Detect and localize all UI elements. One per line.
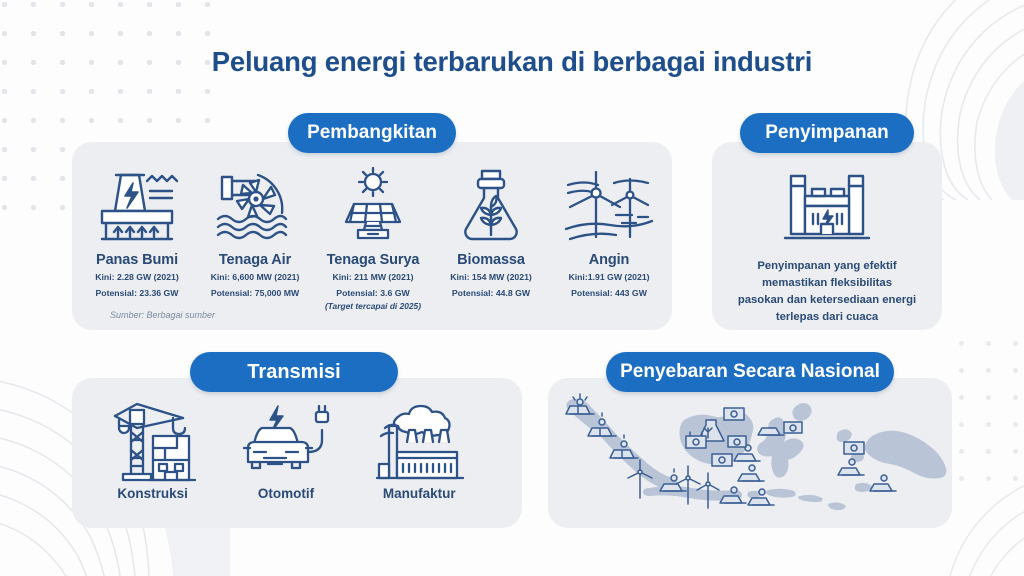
source-note: Sumber: Berbagai sumber (110, 310, 215, 320)
pill-generation[interactable]: Pembangkitan (288, 113, 456, 153)
generation-item-wind[interactable]: Angin Kini:1.91 GW (2021) Potensial: 443… (553, 162, 665, 300)
generation-item-biomass[interactable]: Biomassa Kini: 154 MW (2021) Potensial: … (435, 162, 547, 300)
generation-item-current: Kini: 154 MW (2021) (435, 271, 547, 284)
construction-crane-icon (93, 396, 213, 484)
generation-item-note: (Target tercapai di 2025) (317, 300, 429, 312)
map-plant-icon (728, 436, 746, 447)
generation-item-potential: Potensial: 44.8 GW (435, 287, 547, 300)
generation-item-hydro[interactable]: Tenaga Air Kini: 6,600 MW (2021) Potensi… (199, 162, 311, 300)
generation-item-name: Biomassa (435, 252, 547, 268)
storage-facility-icon (712, 168, 942, 248)
transmission-item-construction[interactable]: Konstruksi (93, 396, 213, 501)
infographic-canvas: Peluang energi terbarukan di berbagai in… (0, 0, 1024, 576)
transmission-item-name: Konstruksi (93, 486, 213, 501)
transmission-item-name: Manufaktur (359, 486, 479, 501)
generation-item-solar[interactable]: Tenaga Surya Kini: 211 MW (2021) Potensi… (317, 162, 429, 312)
electric-car-icon (226, 396, 346, 484)
map-plant-icon (844, 442, 864, 454)
indonesia-archipelago-map (556, 392, 948, 520)
generation-item-current: Kini: 2.28 GW (2021) (81, 271, 193, 284)
generation-item-potential: Potensial: 23.36 GW (81, 287, 193, 300)
generation-item-potential: Potensial: 443 GW (553, 287, 665, 300)
storage-description: Penyimpanan yang efektif memastikan flek… (720, 258, 934, 327)
storage-description-line: pasokan dan ketersediaan energi (720, 292, 934, 309)
transmission-item-automotive[interactable]: Otomotif (226, 396, 346, 501)
pill-distribution[interactable]: Penyebaran Secara Nasional (606, 352, 894, 392)
generation-item-name: Tenaga Air (199, 252, 311, 268)
generation-item-potential: Potensial: 75,000 MW (199, 287, 311, 300)
pill-storage[interactable]: Penyimpanan (740, 113, 914, 153)
generation-item-current: Kini: 6,600 MW (2021) (199, 271, 311, 284)
map-solar-icon (738, 465, 764, 481)
map-plant-icon (724, 408, 744, 420)
transmission-item-manufacturing[interactable]: Manufaktur (359, 396, 479, 501)
generation-item-geothermal[interactable]: Panas Bumi Kini: 2.28 GW (2021) Potensia… (81, 162, 193, 300)
generation-item-current: Kini: 211 MW (2021) (317, 271, 429, 284)
storage-description-line: terlepas dari cuaca (720, 309, 934, 326)
generation-items: Panas Bumi Kini: 2.28 GW (2021) Potensia… (78, 162, 668, 312)
wind-turbine-icon (553, 162, 665, 248)
transmission-item-name: Otomotif (226, 486, 346, 501)
biomass-flask-icon (435, 162, 547, 248)
generation-item-potential: Potensial: 3.6 GW (317, 287, 429, 300)
dot-grid-pattern-right (948, 330, 1024, 490)
solar-panel-icon (317, 162, 429, 248)
geothermal-plant-icon (81, 162, 193, 248)
generation-item-name: Tenaga Surya (317, 252, 429, 268)
storage-description-line: Penyimpanan yang efektif (720, 258, 934, 275)
transmission-items: Konstruksi (86, 396, 486, 501)
storage-description-line: memastikan fleksibilitas (720, 275, 934, 292)
factory-icon (359, 396, 479, 484)
hydro-turbine-icon (199, 162, 311, 248)
map-plant-icon (784, 422, 802, 433)
map-plant-icon (712, 454, 732, 466)
generation-item-name: Panas Bumi (81, 252, 193, 268)
page-title: Peluang energi terbarukan di berbagai in… (0, 46, 1024, 78)
pill-transmission[interactable]: Transmisi (190, 352, 398, 392)
map-solar-icon (870, 475, 896, 491)
generation-item-name: Angin (553, 252, 665, 268)
generation-item-current: Kini:1.91 GW (2021) (553, 271, 665, 284)
